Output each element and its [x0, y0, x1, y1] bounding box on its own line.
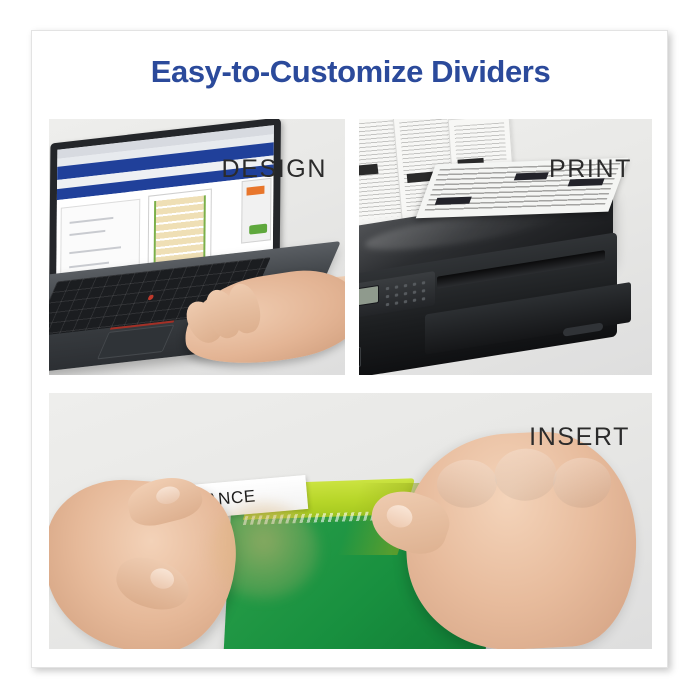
knuckle	[436, 458, 498, 509]
accent-swatch	[247, 186, 265, 196]
product-feature-image: Easy-to-Customize Dividers	[0, 0, 700, 700]
printer-buttons[interactable]	[383, 278, 429, 307]
fingers-behind-divider	[209, 503, 319, 599]
page-title: Easy-to-Customize Dividers	[32, 54, 669, 90]
knuckle	[552, 456, 613, 509]
printer-output-tray	[425, 282, 631, 355]
printer-control-panel[interactable]	[359, 271, 435, 320]
panel-caption-design: DESIGN	[222, 155, 327, 184]
white-card: Easy-to-Customize Dividers	[31, 30, 668, 668]
panel-design: DESIGN	[49, 119, 345, 375]
printer-output-slot	[437, 250, 605, 289]
panel-print: PRINT	[359, 119, 652, 375]
panel-insert: FINANCE INSERT	[49, 393, 652, 649]
panel-caption-insert: INSERT	[529, 423, 630, 452]
knuckle	[493, 447, 558, 502]
panel-caption-print: PRINT	[549, 155, 632, 184]
printer-lcd-screen	[359, 285, 379, 308]
printer-usb-port	[359, 347, 361, 370]
hand-holding-divider	[401, 427, 642, 649]
